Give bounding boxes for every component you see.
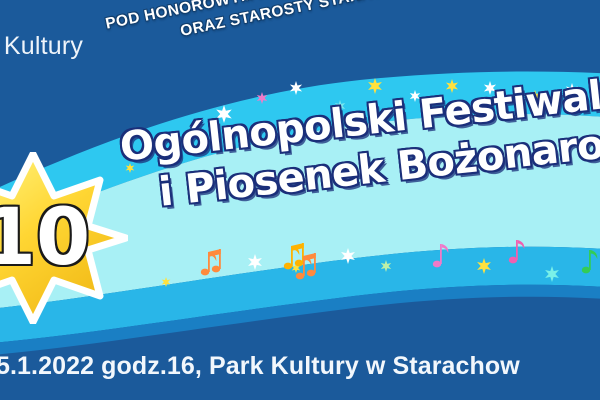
edition-number: 10 xyxy=(0,152,128,324)
organization-name: k Kultury xyxy=(0,32,83,61)
festival-poster: k Kultury POD HONOROWYM PATRONATEM PREZY… xyxy=(0,0,600,400)
event-details: 15.1.2022 godz.16, Park Kultury w Starac… xyxy=(0,352,520,381)
edition-star-badge: 10 xyxy=(0,152,128,324)
